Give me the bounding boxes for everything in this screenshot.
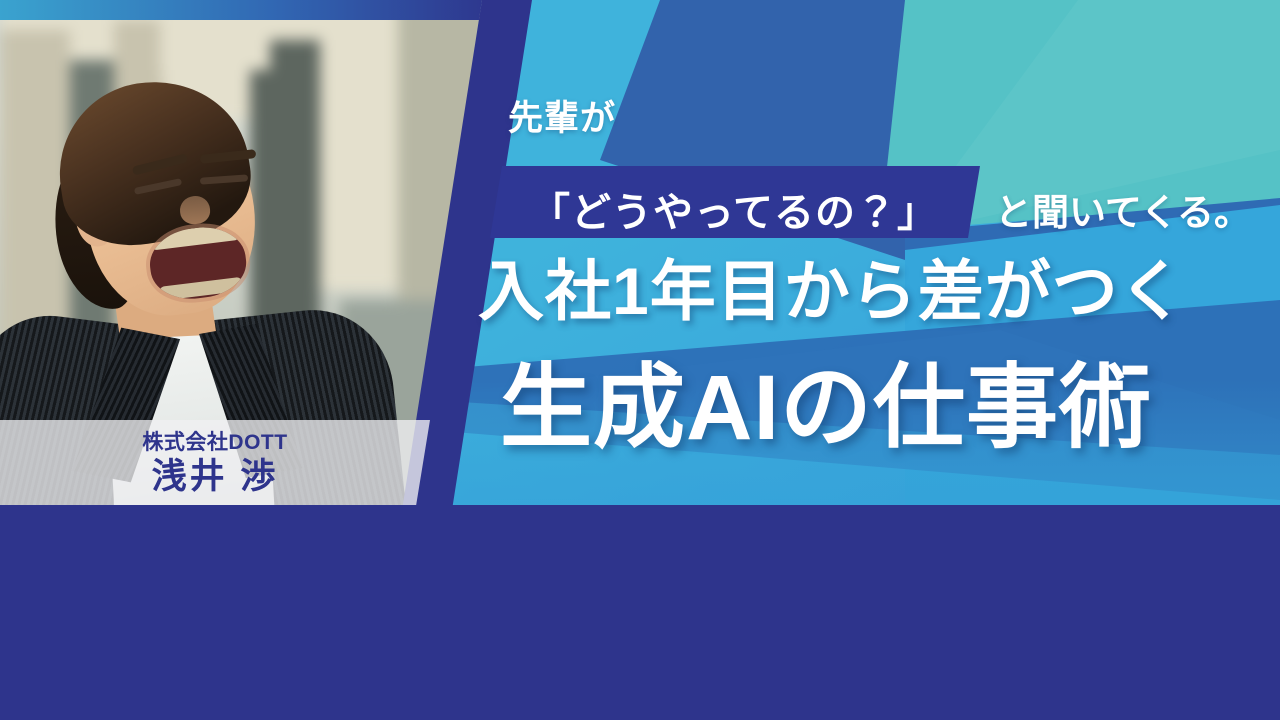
info-bar: 2026. 5.13 水 START 13:30 CLOSE 16:30 札幌市…: [0, 505, 1280, 720]
headline-tail: と聞いてくる。: [995, 182, 1251, 236]
main-title-line-1: 入社1年目から差がつく: [478, 258, 1186, 324]
headline-lead: 先輩が: [508, 90, 616, 141]
main-title-line-2: 生成AIの仕事術: [500, 362, 1152, 454]
seminar-banner: 株式会社DOTT 浅井 渉 先輩が 「どうやってるの？」 と聞いてくる。 入社1…: [0, 0, 1280, 720]
speaker-company: 株式会社DOTT: [142, 432, 287, 453]
headline-quote: 「どうやってるの？」: [530, 180, 938, 238]
photo-top-accent-bar: [0, 0, 500, 20]
speaker-name: 浅井 渉: [152, 459, 279, 494]
speaker-name-band: 株式会社DOTT 浅井 渉: [0, 420, 430, 506]
